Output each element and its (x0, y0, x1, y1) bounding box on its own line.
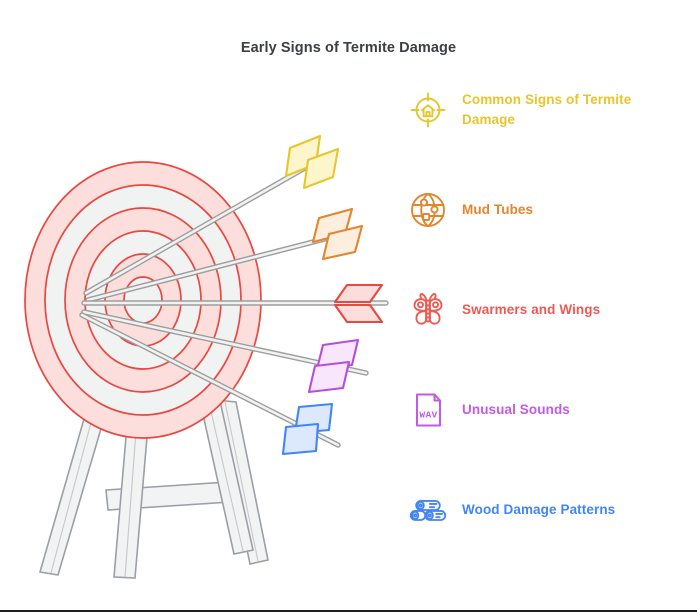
page-title: Early Signs of Termite Damage (0, 40, 697, 56)
arrow-red-fletch-upper (335, 285, 382, 302)
legend-label-unusual-sounds: Unusual Sounds (462, 400, 570, 420)
stacked-logs-icon (408, 490, 448, 530)
legend-item-wood-damage-patterns[interactable]: Wood Damage Patterns (408, 482, 688, 538)
target-illustration-svg (18, 130, 418, 590)
arrow-blue-fletch-lower (283, 424, 318, 454)
infographic-canvas: Early Signs of Termite Damage (0, 0, 697, 612)
globe-network-icon (408, 190, 448, 230)
wav-file-icon: WAV (408, 390, 448, 430)
legend-item-swarmers-and-wings[interactable]: Swarmers and Wings (408, 282, 688, 338)
arrow-purple-fletch-lower (309, 362, 349, 392)
target-illustration (18, 130, 418, 590)
svg-text:WAV: WAV (419, 410, 437, 421)
target-rings (25, 162, 261, 438)
legend-label-swarmers-and-wings: Swarmers and Wings (462, 300, 600, 320)
legend-list: Common Signs of Termite Damage Mu (408, 82, 688, 552)
butterfly-icon (408, 290, 448, 330)
legend-item-unusual-sounds[interactable]: WAV Unusual Sounds (408, 382, 688, 438)
target-house-icon (408, 90, 448, 130)
legend-item-common-signs[interactable]: Common Signs of Termite Damage (408, 82, 688, 138)
arrow-red-fletch-lower (335, 305, 382, 322)
legend-item-mud-tubes[interactable]: Mud Tubes (408, 182, 688, 238)
legend-label-wood-damage-patterns: Wood Damage Patterns (462, 500, 615, 520)
legend-label-mud-tubes: Mud Tubes (462, 200, 533, 220)
legend-label-common-signs: Common Signs of Termite Damage (462, 90, 688, 129)
stand-leg-back-left-line (51, 400, 97, 573)
